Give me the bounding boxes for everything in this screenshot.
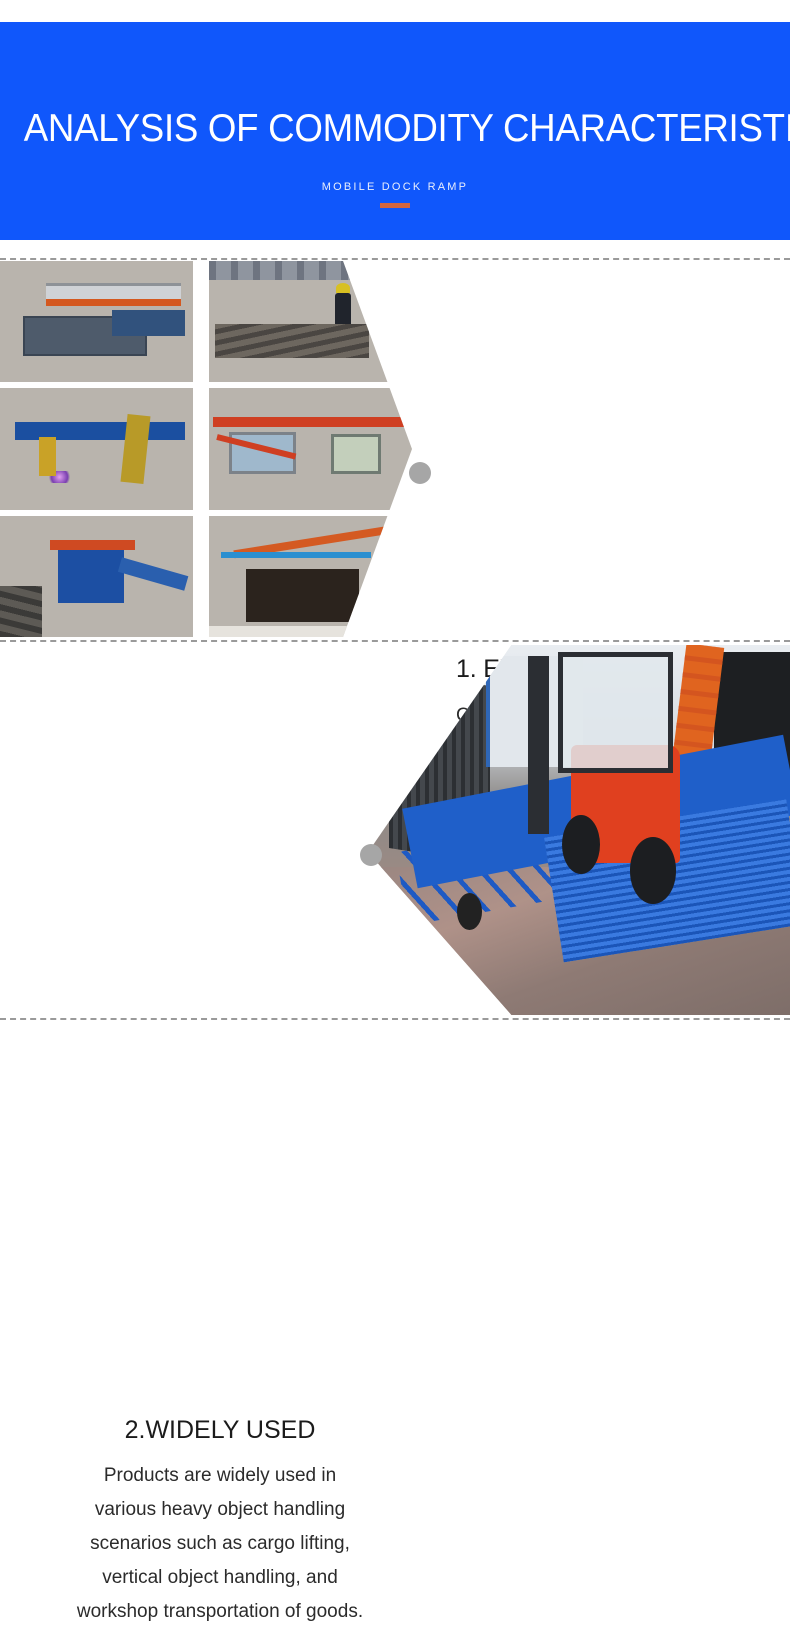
workshop-window	[229, 432, 296, 474]
cutting-head-arm	[120, 414, 150, 484]
page-title: ANALYSIS OF COMMODITY CHARACTERISTICS	[24, 104, 767, 154]
connector-dot-section-1	[409, 462, 431, 484]
connector-dot-section-2	[360, 844, 382, 866]
photo-forklift-on-mobile-dock-ramp	[368, 645, 790, 1015]
feature-section-excellent-material: 1. EXCELLENT MATERIAL Care about every d…	[0, 261, 790, 637]
shear-machine-table	[112, 310, 185, 337]
section-2-body-line-4: vertical object handling, and	[102, 1567, 338, 1588]
blast-duct	[118, 557, 189, 590]
plasma-torch-flame	[46, 471, 73, 483]
workshop-doorway	[331, 434, 382, 474]
photo-powder-coating-line	[209, 516, 412, 637]
header-banner: ANALYSIS OF COMMODITY CHARACTERISTICS MO…	[0, 22, 790, 240]
photo-steel-tube-stock	[209, 261, 412, 382]
photo-cnc-shearing-machine	[0, 261, 193, 382]
divider-top	[0, 258, 790, 260]
section-2-body-line-3: scenarios such as cargo lifting,	[90, 1533, 350, 1554]
section-2-heading: 2.WIDELY USED	[20, 1413, 420, 1447]
section-2-body-line-5: workshop transportation of goods.	[77, 1601, 363, 1622]
booth-floor	[209, 626, 412, 637]
accent-rule	[380, 203, 410, 208]
forklift-cab	[558, 652, 674, 773]
photo-overhead-crane-bay	[209, 388, 412, 509]
forklift-front-wheel	[562, 815, 600, 874]
collage-column-right	[209, 261, 412, 637]
feature-section-widely-used: 2.WIDELY USED Products are widely used i…	[0, 645, 790, 1015]
profile-stock-stack	[0, 586, 42, 637]
section-2-body-line-1: Products are widely used in	[104, 1465, 336, 1486]
coating-booth	[246, 569, 360, 622]
page-subtitle: MOBILE DOCK RAMP	[0, 179, 790, 195]
ramp-wheel	[457, 893, 482, 930]
photo-shot-blasting-line	[0, 516, 193, 637]
worker-figure	[335, 293, 351, 334]
collage-column-left	[0, 261, 193, 637]
section-2-text-block: 2.WIDELY USED Products are widely used i…	[20, 1413, 420, 1629]
section-2-body: Products are widely used in various heav…	[20, 1459, 420, 1629]
forklift-rear-wheel	[630, 837, 676, 904]
photo-cnc-plasma-cutting	[0, 388, 193, 509]
forklift-mast	[528, 656, 549, 834]
section-2-body-line-2: various heavy object handling	[95, 1499, 345, 1520]
divider-middle	[0, 640, 790, 642]
factory-photo-collage	[0, 261, 412, 637]
divider-bottom	[0, 1018, 790, 1020]
